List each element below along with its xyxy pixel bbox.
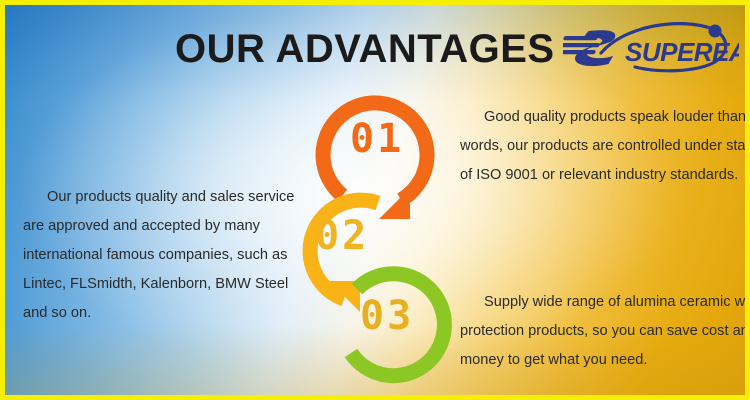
text-line: Good quality products speak louder than — [460, 103, 735, 132]
step-number-03: 03 — [360, 293, 414, 339]
text-line: are approved and accepted by many — [23, 212, 313, 241]
step-number-01: 01 — [350, 116, 404, 162]
step-number-02: 02 — [315, 213, 369, 259]
advantage-text-products: Supply wide range of alumina ceramic wea… — [460, 288, 735, 375]
advantages-banner: OUR ADVANTAGES SUPEREAL — [0, 0, 750, 400]
banner-header: OUR ADVANTAGES SUPEREAL — [5, 13, 745, 75]
swoosh-dot-icon — [709, 25, 722, 38]
text-line: protection products, so you can save cos… — [460, 317, 735, 346]
text-line: of ISO 9001 or relevant industry standar… — [460, 161, 735, 190]
text-line: international famous companies, such as — [23, 241, 313, 270]
advantage-text-customers: Our products quality and sales service a… — [23, 183, 313, 328]
page-title: OUR ADVANTAGES — [175, 27, 555, 72]
text-line: money to get what you need. — [460, 346, 735, 375]
text-line: Lintec, FLSmidth, Kalenborn, BMW Steel — [23, 270, 313, 299]
text-line: Supply wide range of alumina ceramic wea… — [460, 288, 735, 317]
speed-lines-icon — [563, 30, 619, 66]
advantage-text-quality: Good quality products speak louder than … — [460, 103, 735, 190]
supereal-logo: SUPEREAL — [563, 19, 739, 75]
text-line: Our products quality and sales service — [23, 183, 313, 212]
text-line: words, our products are controlled under… — [460, 132, 735, 161]
logo-text: SUPEREAL — [625, 37, 739, 67]
text-line: and so on. — [23, 299, 313, 328]
